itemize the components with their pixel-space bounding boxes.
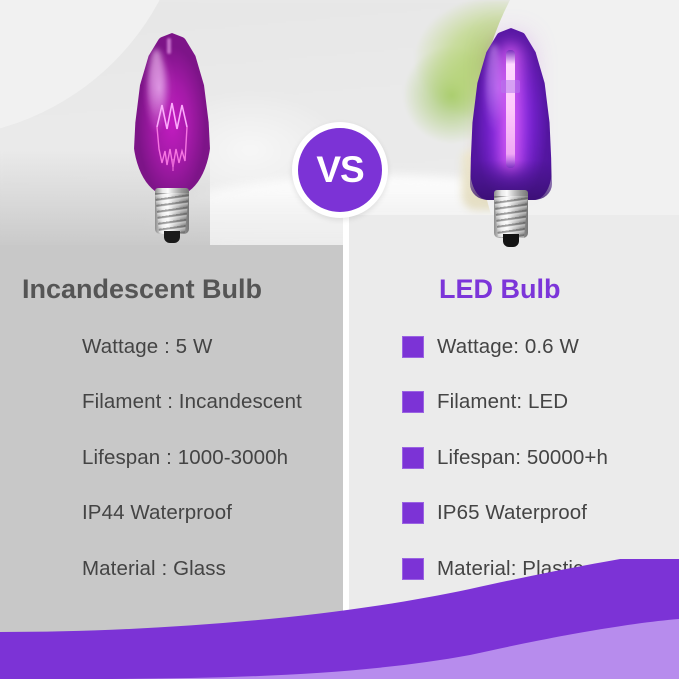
spec-text: Lifespan: 50000+h	[437, 446, 608, 470]
spec-text: Filament: LED	[437, 390, 568, 414]
bulb-contact-tip	[503, 234, 519, 247]
led-bulb-icon	[463, 28, 559, 260]
spec-row: Lifespan : 1000-3000h	[82, 443, 332, 472]
spec-text: Lifespan : 1000-3000h	[82, 446, 288, 470]
incandescent-heading: Incandescent Bulb	[22, 274, 262, 305]
bulb-screw-threads	[155, 193, 189, 233]
bulb-contact-tip	[164, 231, 180, 243]
spec-row: Filament: LED	[402, 388, 664, 417]
bulb-screw-threads	[494, 196, 528, 238]
spec-text: Filament : Incandescent	[82, 390, 302, 414]
bullet-square-icon	[402, 447, 424, 469]
comparison-infographic: VS Incandescent Bulb LED Bulb Wattage : …	[0, 0, 679, 679]
vs-badge-label: VS	[316, 149, 363, 191]
spec-row: Lifespan: 50000+h	[402, 443, 664, 472]
vs-badge: VS	[292, 122, 388, 218]
spec-row: Filament : Incandescent	[82, 388, 332, 417]
bulb-highlight	[486, 44, 502, 130]
spec-row: Wattage: 0.6 W	[402, 332, 664, 361]
spec-text: Wattage : 5 W	[82, 335, 212, 359]
bullet-square-icon	[402, 502, 424, 524]
spec-text: Wattage: 0.6 W	[437, 335, 579, 359]
led-filament-cap	[501, 80, 520, 93]
spec-row: Wattage : 5 W	[82, 332, 332, 361]
incandescent-filament-icon	[154, 99, 192, 171]
bulb-tip-highlight	[167, 38, 171, 54]
bottom-swoosh-decoration	[0, 559, 679, 679]
spec-row: IP44 Waterproof	[82, 499, 332, 528]
led-heading: LED Bulb	[439, 274, 561, 305]
led-filament-icon	[506, 50, 515, 168]
bullet-square-icon	[402, 336, 424, 358]
bullet-square-icon	[402, 391, 424, 413]
spec-text: IP44 Waterproof	[82, 501, 232, 525]
spec-row: IP65 Waterproof	[402, 499, 664, 528]
spec-text: IP65 Waterproof	[437, 501, 587, 525]
incandescent-bulb-icon	[126, 33, 218, 253]
